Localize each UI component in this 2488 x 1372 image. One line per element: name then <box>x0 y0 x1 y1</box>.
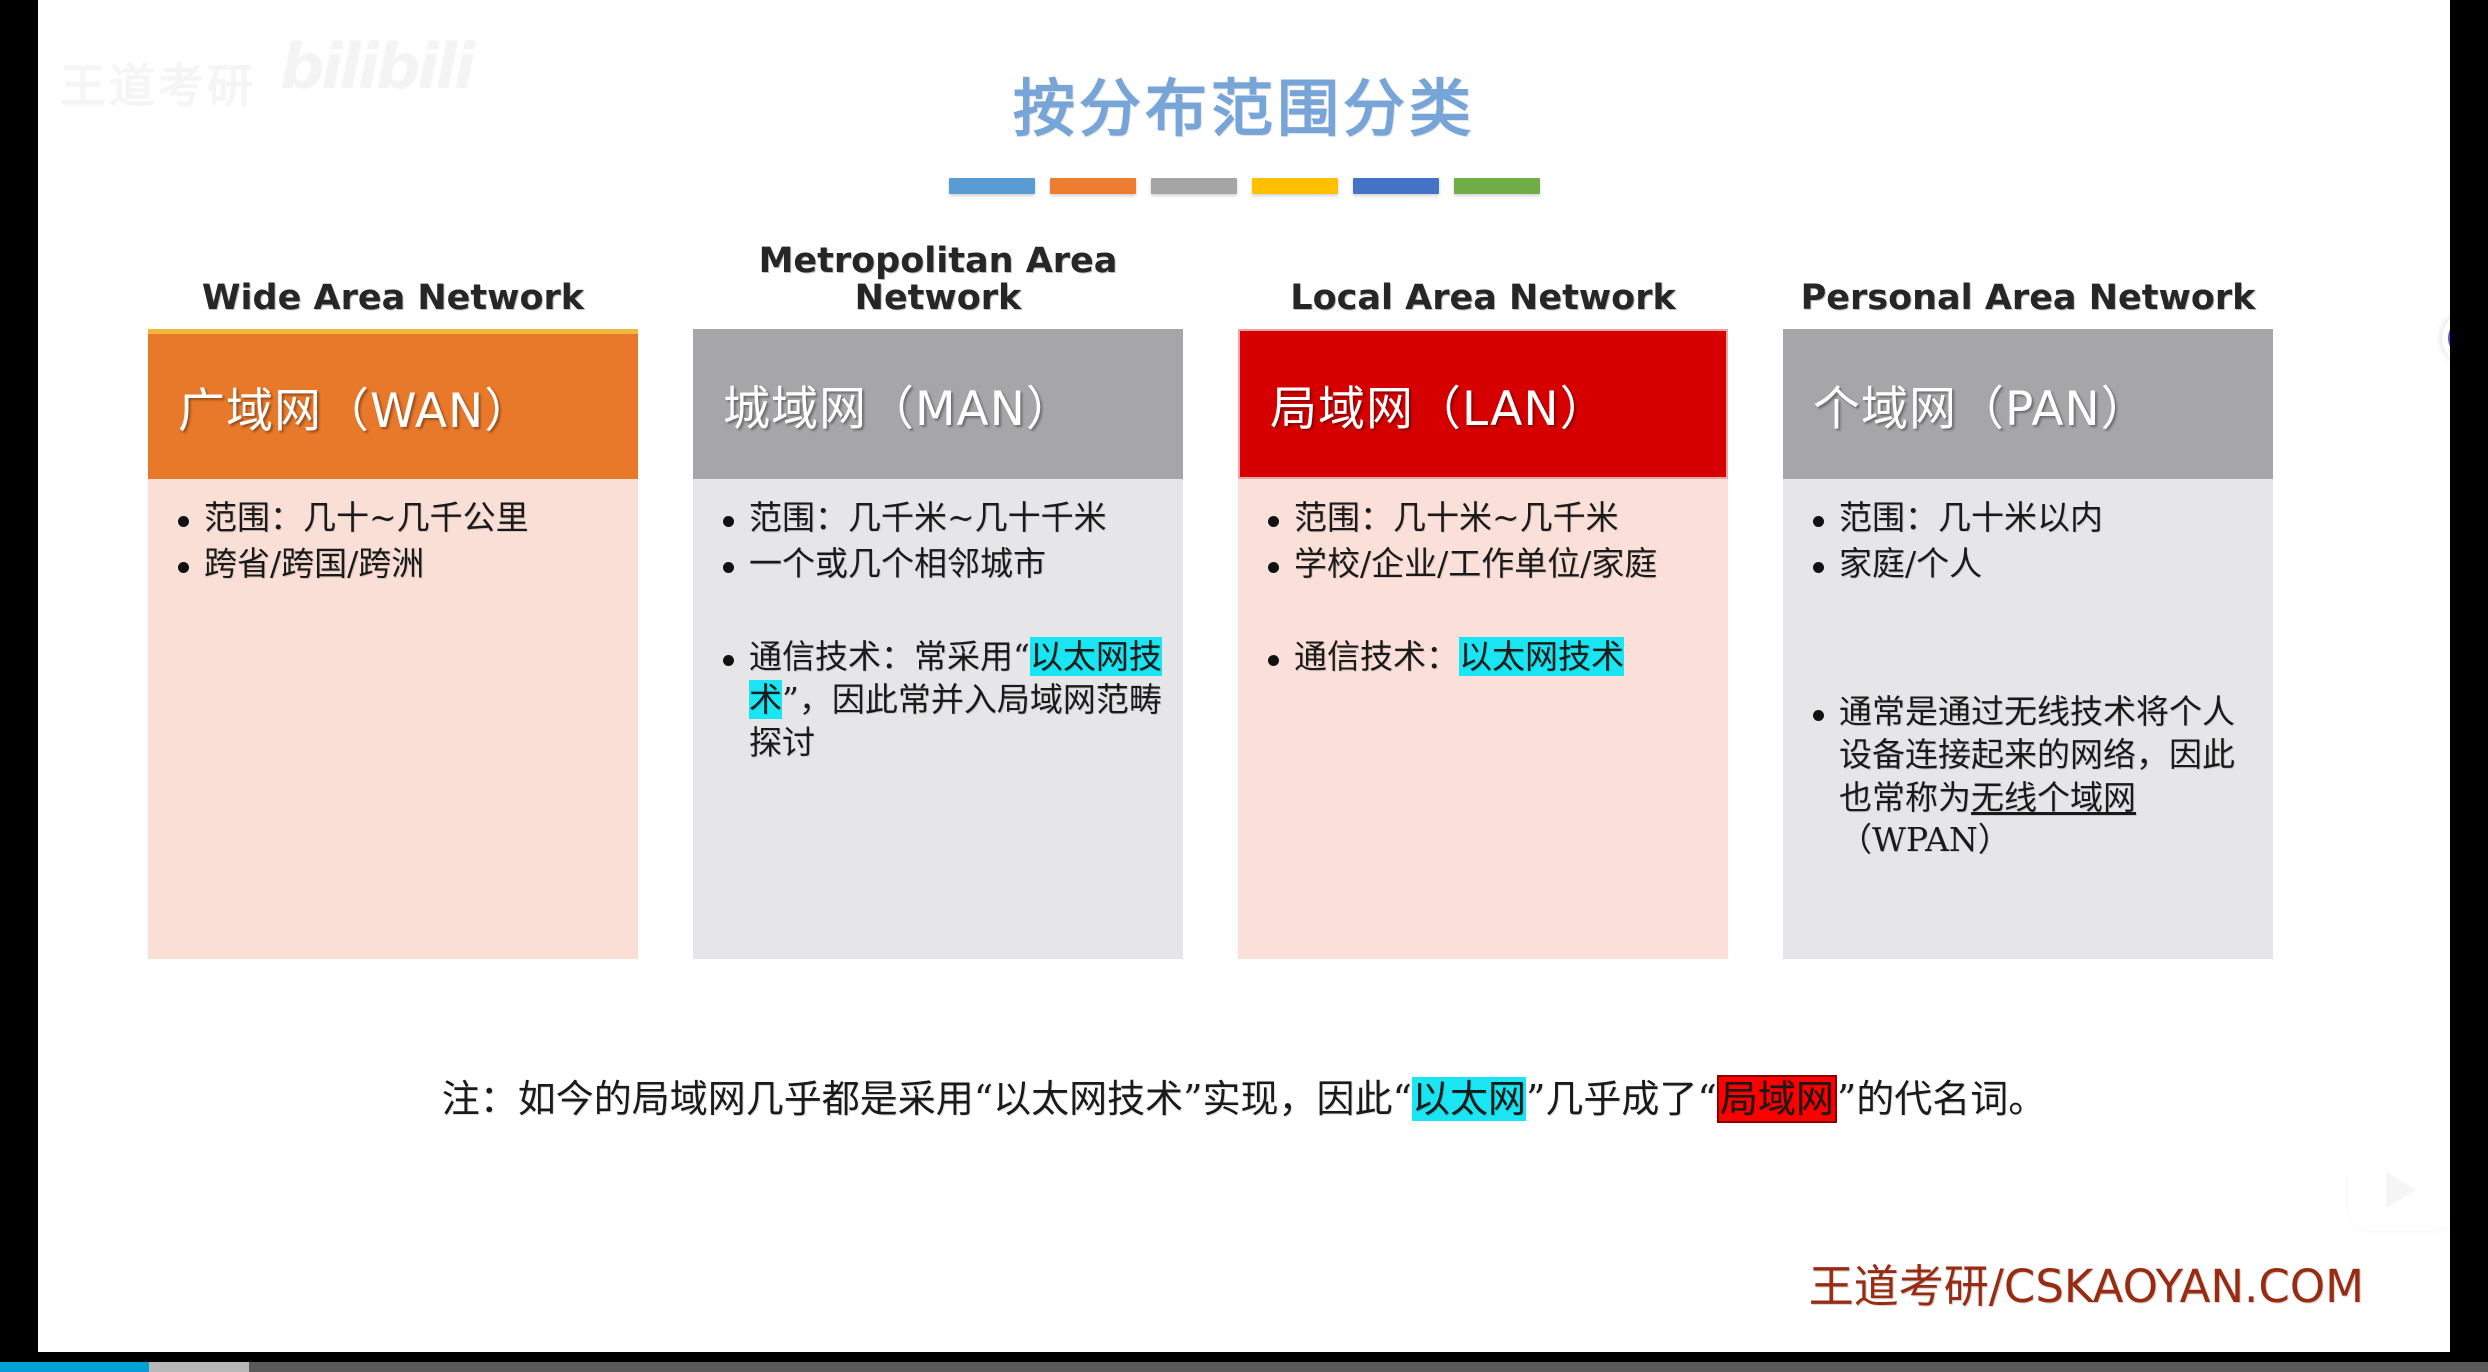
bar-darkblue <box>1353 178 1439 194</box>
bullet-list-man: 范围：几千米~几十千米 一个或几个相邻城市 通信技术：常采用“以太网技术”，因此… <box>713 497 1167 764</box>
bar-blue <box>949 178 1035 194</box>
card-wan: 广域网（WAN） 范围：几十~几千公里 跨省/跨国/跨洲 <box>148 329 638 959</box>
card-pan: 个域网（PAN） 范围：几十米以内 家庭/个人 通常是通过无线技术将个人设备连接… <box>1783 329 2273 959</box>
list-item: 家庭/个人 <box>1839 543 2257 586</box>
card-header-pan: 个域网（PAN） <box>1783 329 2273 479</box>
bullet-list-lan: 范围：几十米~几千米 学校/企业/工作单位/家庭 通信技术：以太网技术 <box>1258 497 1712 679</box>
bar-yellow <box>1252 178 1338 194</box>
list-item: 范围：几十~几千公里 <box>204 497 622 540</box>
card-title-lan: 局域网（LAN） <box>1270 370 1608 439</box>
note-pre: 注：如今的局域网几乎都是采用“以太网技术”实现，因此“ <box>442 1077 1412 1121</box>
bullet-list-wan: 范围：几十~几千公里 跨省/跨国/跨洲 <box>168 497 622 586</box>
slide-canvas: 王道考研 bilibili 按分布范围分类 Wide Area Network … <box>38 0 2450 1352</box>
note-mid: ”几乎成了“ <box>1526 1077 1717 1121</box>
video-player: 王道考研 bilibili 按分布范围分类 Wide Area Network … <box>0 0 2488 1372</box>
card-man: 城域网（MAN） 范围：几千米~几十千米 一个或几个相邻城市 通信技术：常采用“… <box>693 329 1183 959</box>
card-body-man: 范围：几千米~几十千米 一个或几个相邻城市 通信技术：常采用“以太网技术”，因此… <box>693 479 1183 959</box>
list-item: 学校/企业/工作单位/家庭 <box>1294 543 1712 586</box>
column-header-man: Metropolitan Area Network <box>693 225 1183 317</box>
letterbox-right <box>2450 0 2488 1372</box>
text-pre: 通信技术： <box>1294 637 1459 676</box>
list-item: 范围：几千米~几十千米 <box>749 497 1167 540</box>
card-lan: 局域网（LAN） 范围：几十米~几千米 学校/企业/工作单位/家庭 通信技术：以… <box>1238 329 1728 959</box>
card-title-pan: 个域网（PAN） <box>1813 370 2149 439</box>
column-lan: Local Area Network 局域网（LAN） 范围：几十米~几千米 学… <box>1238 225 1728 959</box>
highlight-lan: 局域网 <box>1717 1075 1837 1123</box>
list-item: 跨省/跨国/跨洲 <box>204 543 622 586</box>
list-item: 通信技术：常采用“以太网技术”，因此常并入局域网范畴探讨 <box>749 636 1167 765</box>
card-title-wan: 广域网（WAN） <box>178 372 532 441</box>
card-body-lan: 范围：几十米~几千米 学校/企业/工作单位/家庭 通信技术：以太网技术 <box>1238 479 1728 959</box>
column-header-lan: Local Area Network <box>1238 225 1728 317</box>
underlined-wpan-term: 无线个域网 <box>1971 778 2136 817</box>
brand-footer: 王道考研/CSKAOYAN.COM <box>1809 1250 2364 1315</box>
letterbox-left <box>0 0 38 1372</box>
text-pre: 通信技术：常采用“ <box>749 637 1030 676</box>
card-title-man: 城域网（MAN） <box>723 370 1074 439</box>
highlight-ethernet-tech: 以太网技术 <box>1459 637 1624 676</box>
column-wan: Wide Area Network 广域网（WAN） 范围：几十~几千公里 跨省… <box>148 225 638 959</box>
column-pan: Personal Area Network 个域网（PAN） 范围：几十米以内 … <box>1783 225 2273 959</box>
title-decoration-bars <box>38 178 2450 194</box>
footnote: 注：如今的局域网几乎都是采用“以太网技术”实现，因此“以太网”几乎成了“局域网”… <box>38 1068 2450 1123</box>
card-body-pan: 范围：几十米以内 家庭/个人 通常是通过无线技术将个人设备连接起来的网络，因此也… <box>1783 479 2273 959</box>
list-item: 一个或几个相邻城市 <box>749 543 1167 586</box>
note-post: ”的代名词。 <box>1837 1077 2046 1121</box>
card-header-lan: 局域网（LAN） <box>1238 329 1728 479</box>
column-header-pan: Personal Area Network <box>1783 225 2273 317</box>
list-item: 通信技术：以太网技术 <box>1294 636 1712 679</box>
page-title: 按分布范围分类 <box>38 58 2450 148</box>
card-body-wan: 范围：几十~几千公里 跨省/跨国/跨洲 <box>148 479 638 959</box>
column-header-wan: Wide Area Network <box>148 225 638 317</box>
network-type-columns: Wide Area Network 广域网（WAN） 范围：几十~几千公里 跨省… <box>148 225 2378 1025</box>
video-progress-bar[interactable] <box>0 1362 2488 1372</box>
letterbox-bottom <box>0 1352 2488 1362</box>
list-item: 范围：几十米~几千米 <box>1294 497 1712 540</box>
card-header-man: 城域网（MAN） <box>693 329 1183 479</box>
text-post: ”，因此常并入局域网范畴探讨 <box>749 680 1162 762</box>
list-item: 范围：几十米以内 <box>1839 497 2257 540</box>
text-post: （WPAN） <box>1839 820 2011 859</box>
highlight-ethernet: 以太网 <box>1412 1077 1526 1121</box>
bar-orange <box>1050 178 1136 194</box>
card-header-wan: 广域网（WAN） <box>148 329 638 479</box>
bar-green <box>1454 178 1540 194</box>
column-man: Metropolitan Area Network 城域网（MAN） 范围：几千… <box>693 225 1183 959</box>
bullet-list-pan: 范围：几十米以内 家庭/个人 通常是通过无线技术将个人设备连接起来的网络，因此也… <box>1803 497 2257 862</box>
list-item: 通常是通过无线技术将个人设备连接起来的网络，因此也常称为无线个域网（WPAN） <box>1839 691 2257 863</box>
bar-gray <box>1151 178 1237 194</box>
progress-played[interactable] <box>0 1362 149 1372</box>
